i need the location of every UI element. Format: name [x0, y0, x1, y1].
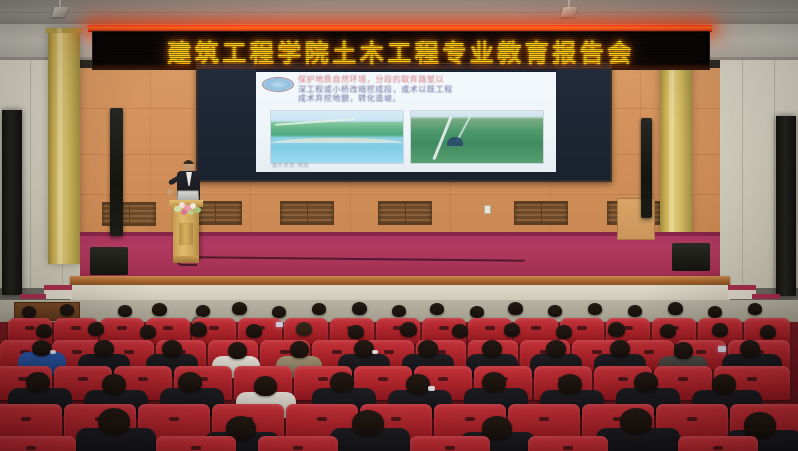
audience-head: [354, 340, 374, 357]
screen-right-letterbox: [556, 64, 610, 180]
audience-head: [674, 342, 693, 359]
gold-column-left: [48, 28, 80, 264]
audience-head: [330, 372, 354, 392]
wall-grille-panel: [378, 201, 432, 225]
wall-grille-panel: [514, 201, 568, 225]
phone-screen-glow: [718, 346, 726, 352]
column-speaker-left: [110, 108, 123, 236]
column-speaker-right: [641, 118, 652, 218]
audience-head: [296, 322, 312, 336]
slide-text-line-2: 深工程或小桥改暗挖成段，或术以既工程: [298, 85, 548, 95]
stage-monitor-right: [672, 243, 710, 271]
audience: [0, 300, 798, 451]
audience-head: [668, 302, 683, 315]
audience-head: [430, 303, 444, 315]
audience-head: [392, 305, 406, 317]
ceiling: [0, 0, 798, 24]
auditorium-photo: 建筑工程学院土木工程专业教育报告会 保护地质自然环境，分段的取弃路堑以 深工程或…: [0, 0, 798, 451]
audience-seat: [0, 436, 76, 451]
projection-screen: 保护地质自然环境，分段的取弃路堑以 深工程或小桥改暗挖成段，或术以既工程 成术弃…: [196, 62, 612, 182]
audience-head: [470, 306, 484, 318]
slide-caption: 图片来源 网络: [272, 162, 309, 169]
audience-seat: [156, 436, 236, 451]
presentation-slide: 保护地质自然环境，分段的取弃路堑以 深工程或小桥改暗挖成段，或术以既工程 成术弃…: [256, 72, 556, 172]
audience-head: [712, 323, 728, 337]
audience-head: [482, 372, 506, 392]
audience-head: [740, 340, 760, 357]
audience-head: [660, 324, 676, 338]
institute-seal-icon: [262, 77, 294, 92]
audience-head: [712, 374, 736, 394]
slide-text-line-3: 成术弃挖地貌，转化造坡。: [298, 94, 548, 104]
audience-head: [232, 302, 247, 315]
stage-step-riser: [44, 290, 72, 299]
phone-screen-glow: [276, 322, 283, 327]
led-banner: 建筑工程学院土木工程专业教育报告会: [92, 31, 710, 70]
audience-head: [272, 306, 286, 318]
slide-text-block: 保护地质自然环境，分段的取弃路堑以 深工程或小桥改暗挖成段，或术以既工程 成术弃…: [298, 75, 548, 104]
audience-seat: [258, 436, 338, 451]
audience-head: [102, 374, 126, 394]
audience-head: [22, 306, 36, 318]
audience-head: [352, 410, 384, 436]
wall-grille-panel: [280, 201, 334, 225]
audience-seat: [410, 436, 490, 451]
stage-monitor-left: [90, 247, 128, 275]
aerial-highway-photo: [410, 110, 544, 164]
audience-head: [406, 374, 430, 394]
audience-head: [634, 372, 658, 392]
aerial-lake-photo: [270, 110, 404, 164]
audience-head: [508, 302, 523, 315]
face-mask: [372, 350, 378, 354]
audience-head: [504, 323, 520, 337]
audience-head: [608, 322, 625, 337]
audience-head: [246, 324, 262, 338]
audience-head: [482, 340, 502, 357]
audience-head: [254, 376, 277, 396]
audience-head: [558, 374, 582, 394]
audience-head: [556, 325, 572, 339]
screen-left-letterbox: [198, 64, 256, 180]
audience-head: [152, 303, 167, 316]
audience-head: [178, 372, 202, 392]
audience-head: [312, 303, 326, 315]
audience-head: [98, 408, 130, 434]
audience-head: [26, 372, 50, 392]
wall-switch[interactable]: [484, 205, 491, 214]
line-array-speaker-left: [2, 110, 22, 295]
face-mask: [428, 386, 435, 391]
audience-head: [628, 305, 642, 317]
ceiling-seam: [0, 12, 798, 13]
stage-step: [20, 294, 46, 299]
audience-seat: [528, 436, 608, 451]
line-array-speaker-right: [776, 116, 796, 296]
ceiling-spotlight-icon: [565, 0, 573, 18]
audience-head: [452, 324, 468, 338]
audience-head: [548, 305, 562, 317]
audience-head: [348, 325, 364, 339]
audience-head: [190, 322, 207, 337]
audience-head: [588, 303, 602, 315]
audience-head: [400, 322, 417, 337]
ceiling-spotlight-icon: [56, 0, 64, 18]
podium-flowers: [172, 200, 202, 216]
audience-head: [418, 340, 438, 357]
audience-head: [60, 304, 74, 316]
audience-head: [352, 302, 367, 315]
audience-head: [620, 408, 652, 434]
audience-head: [162, 340, 182, 357]
audience-head: [748, 303, 762, 315]
slide-text-line-1: 保护地质自然环境，分段的取弃路堑以: [298, 75, 548, 85]
audience-head: [760, 325, 776, 339]
audience-head: [744, 412, 776, 438]
audience-head: [32, 340, 51, 356]
audience-seat: [678, 436, 758, 451]
stage-front-edge: [70, 276, 730, 285]
stage-step: [752, 294, 780, 299]
audience-head: [94, 340, 114, 357]
audience-head: [228, 342, 247, 359]
audience-head: [36, 324, 52, 338]
face-mask: [50, 350, 56, 354]
audience-head: [610, 340, 630, 357]
audience-head: [140, 325, 156, 339]
audience-head: [708, 306, 722, 318]
audience-head: [118, 305, 132, 317]
audience-head: [88, 322, 104, 336]
led-banner-text: 建筑工程学院土木工程专业教育报告会: [167, 33, 635, 68]
audience-head: [546, 340, 566, 357]
audience-head: [290, 341, 309, 358]
